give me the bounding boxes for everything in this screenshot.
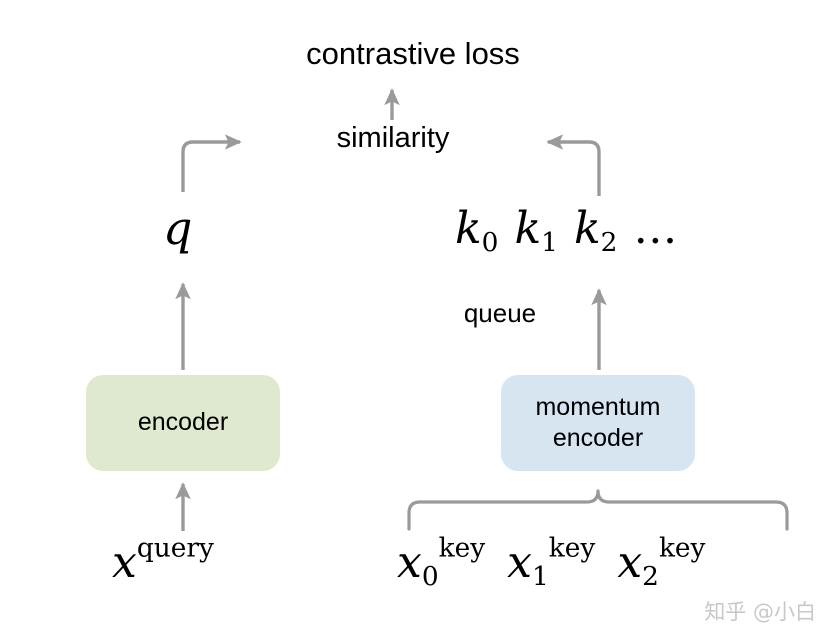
- key-inputs-brace: [409, 491, 787, 529]
- x-key1: x1key: [507, 537, 595, 588]
- k1-symbol: k1: [514, 203, 557, 254]
- x-query-base: x: [112, 537, 137, 588]
- k0-symbol: k0: [455, 203, 498, 254]
- x-query-superscript: query: [137, 532, 214, 563]
- encoder-box[interactable]: encoder: [86, 375, 280, 471]
- diagram-canvas: contrastive loss similarity queue q k0k1…: [0, 0, 826, 634]
- x-key0: x0key: [397, 537, 485, 588]
- similarity-label: similarity: [228, 124, 558, 153]
- x-query-input-label: xquery: [112, 541, 214, 585]
- encoder-box-label: encoder: [138, 407, 228, 438]
- contrastive-loss-label: contrastive loss: [0, 38, 826, 69]
- queue-label: queue: [380, 300, 620, 326]
- watermark: 知乎 @小白: [704, 596, 816, 626]
- x-key-inputs-label: x0keyx1keyx2key: [397, 541, 705, 585]
- query-representation-label: q: [163, 205, 192, 251]
- momentum-encoder-line1: momentum: [535, 393, 660, 421]
- x-key2: x2key: [617, 537, 705, 588]
- momentum-encoder-line2: encoder: [553, 424, 643, 452]
- k2-symbol: k2: [574, 203, 617, 254]
- q-symbol: q: [163, 201, 192, 255]
- k-ellipsis: …: [633, 203, 679, 254]
- momentum-encoder-box-label: momentumencoder: [535, 392, 660, 455]
- momentum-encoder-box[interactable]: momentumencoder: [501, 375, 695, 471]
- key-representations-label: k0k1k2…: [455, 207, 679, 251]
